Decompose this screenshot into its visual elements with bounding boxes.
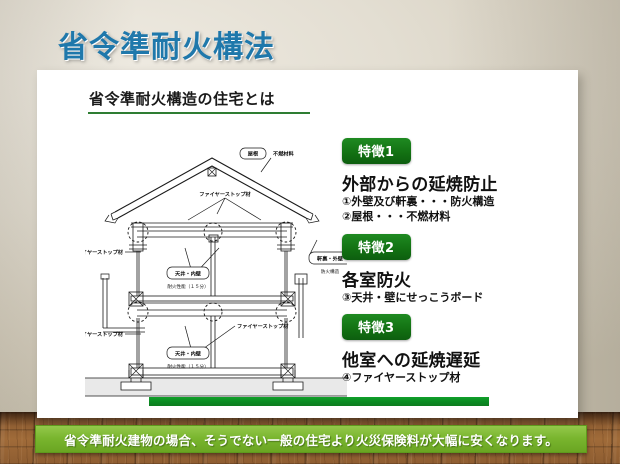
feature-3-item-1: ④ファイヤーストップ材 — [342, 371, 572, 386]
feature-block-3: 特徴3 他室への延焼遅延 ④ファイヤーストップ材 — [342, 314, 572, 386]
feature-1-item-1: ①外壁及び軒裏・・・防火構造 — [342, 195, 572, 210]
content-panel: 省令準耐火構造の住宅とは — [37, 70, 578, 418]
diagram-label-firestop-upper-left: ファイヤーストップ材 — [85, 248, 124, 256]
feature-1-heading: 外部からの延焼防止 — [342, 170, 572, 195]
diagram-label-eaves-note: 防火構造 — [321, 268, 340, 275]
feature-2-heading: 各室防火 — [342, 266, 572, 291]
bottom-banner: 省令準耐火建物の場合、そうでない一般の住宅より火災保険料が大幅に安くなります。 — [35, 425, 587, 453]
panel-heading: 省令準耐火構造の住宅とは — [89, 88, 275, 109]
diagram-label-ceiling-wall-upper: 天井・内壁 — [175, 269, 202, 277]
diagram-label-fire-rating-upper: 耐火性能（１５分） — [167, 283, 208, 290]
foundation-ground — [85, 370, 347, 400]
diagram-label-fire-rating-lower: 耐火性能（１５分） — [167, 363, 208, 370]
feature-block-2: 特徴2 各室防火 ③天井・壁にせっこうボード — [342, 234, 572, 306]
house-cross-section-diagram: 屋根 不燃材料 ファイヤーストップ材 天井・内壁 耐火性能（１５分） ファイヤー… — [85, 128, 347, 390]
diagram-label-roof: 屋根 — [248, 150, 259, 158]
bottom-banner-text: 省令準耐火建物の場合、そうでない一般の住宅より火災保険料が大幅に安くなります。 — [64, 430, 558, 449]
diagram-label-firestop-lower-left: ファイヤーストップ材 — [85, 330, 124, 338]
feature-3-badge: 特徴3 — [342, 314, 411, 340]
diagram-label-eaves-wall: 軒裏・外壁 — [317, 254, 344, 262]
diagram-label-firestop-lower-right: ファイヤーストップ材 — [237, 322, 289, 330]
diagram-label-firestop-top: ファイヤーストップ材 — [199, 190, 251, 198]
diagram-label-roof-note: 不燃材料 — [273, 150, 295, 158]
feature-1-badge: 特徴1 — [342, 138, 411, 164]
slide-stage: 省令準耐火構法 省令準耐火構造の住宅とは — [0, 0, 620, 464]
feature-1-item-2: ②屋根・・・不燃材料 — [342, 210, 572, 225]
panel-heading-rule — [88, 112, 310, 114]
page-title: 省令準耐火構法 — [58, 22, 275, 66]
feature-2-badge: 特徴2 — [342, 234, 411, 260]
accent-bar — [149, 397, 489, 406]
feature-3-heading: 他室への延焼遅延 — [342, 346, 572, 371]
feature-2-item-1: ③天井・壁にせっこうボード — [342, 291, 572, 306]
diagram-label-ceiling-wall-lower: 天井・内壁 — [175, 349, 202, 357]
feature-block-1: 特徴1 外部からの延焼防止 ①外壁及び軒裏・・・防火構造 ②屋根・・・不燃材料 — [342, 138, 572, 225]
